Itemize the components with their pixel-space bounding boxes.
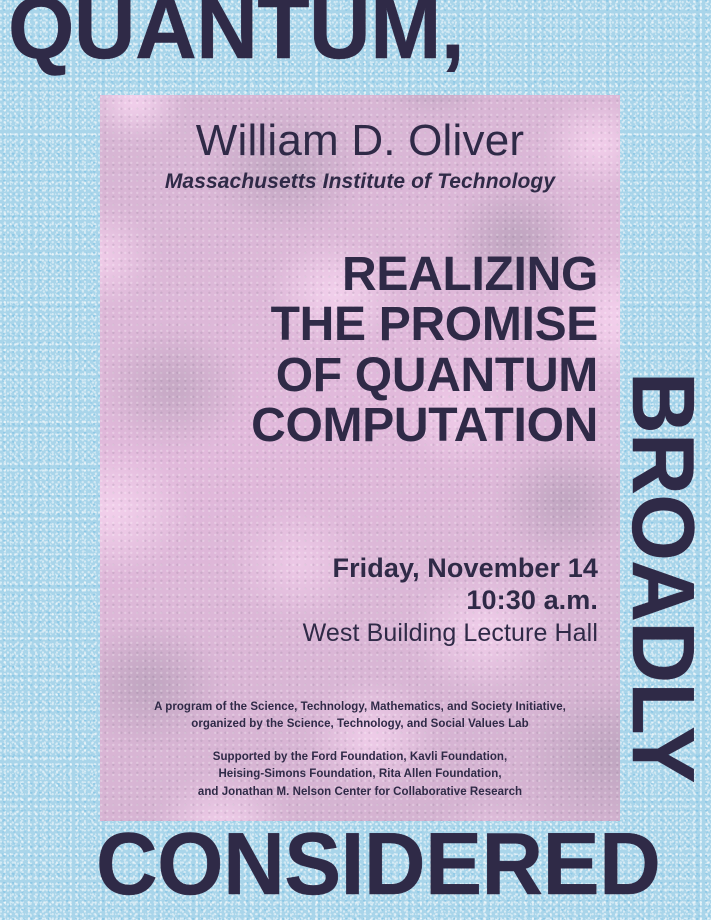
event-date: Friday, November 14	[110, 553, 598, 585]
credits-block: A program of the Science, Technology, Ma…	[116, 699, 604, 801]
title-line-2: THE PROMISE	[110, 300, 598, 350]
cover-word-quantum: QUANTUM,	[8, 0, 464, 63]
event-location: West Building Lecture Hall	[110, 617, 598, 650]
lecture-title: REALIZING THE PROMISE OF QUANTUM COMPUTA…	[110, 250, 598, 452]
poster-photo-panel: William D. Oliver Massachusetts Institut…	[100, 95, 620, 821]
speaker-affiliation: Massachusetts Institute of Technology	[100, 170, 620, 194]
speaker-block: William D. Oliver Massachusetts Institut…	[100, 119, 620, 194]
credit-support-line-1: Supported by the Ford Foundation, Kavli …	[116, 749, 604, 766]
credit-program-line-2: organized by the Science, Technology, an…	[116, 716, 604, 733]
title-line-4: COMPUTATION	[110, 401, 598, 451]
credit-program-line-1: A program of the Science, Technology, Ma…	[116, 699, 604, 716]
panel-content: William D. Oliver Massachusetts Institut…	[100, 95, 620, 821]
event-details: Friday, November 14 10:30 a.m. West Buil…	[110, 553, 598, 649]
event-time: 10:30 a.m.	[110, 585, 598, 617]
title-line-3: OF QUANTUM	[110, 351, 598, 401]
event-poster: QUANTUM, BROADLY CONSIDERED William D. O…	[0, 0, 711, 920]
title-line-1: REALIZING	[110, 250, 598, 300]
credit-support-line-2: Heising-Simons Foundation, Rita Allen Fo…	[116, 766, 604, 783]
cover-word-broadly: BROADLY	[628, 372, 697, 783]
speaker-name: William D. Oliver	[100, 119, 620, 163]
cover-word-considered: CONSIDERED	[96, 830, 660, 899]
credit-support-line-3: and Jonathan M. Nelson Center for Collab…	[116, 784, 604, 801]
